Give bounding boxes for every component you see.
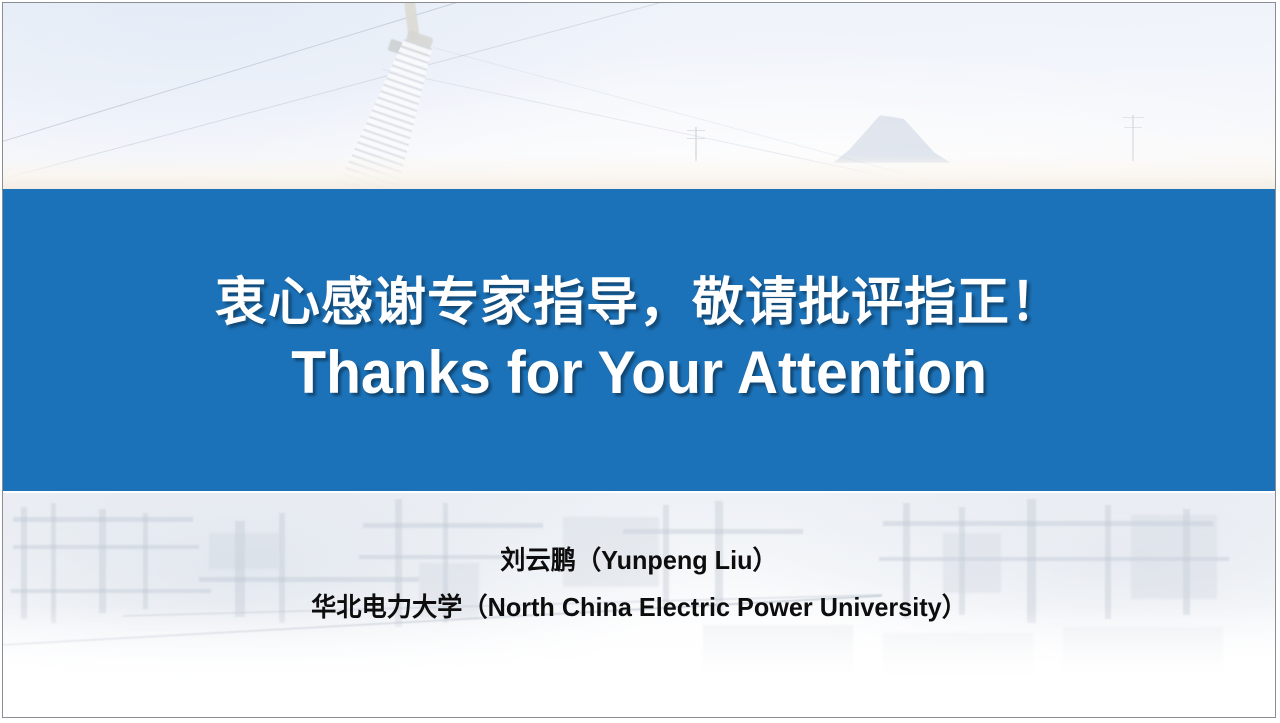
pylon-arm: [687, 138, 705, 139]
ground-glow: [3, 607, 1275, 717]
substation-beam: [363, 523, 543, 528]
substation-beam: [13, 517, 193, 522]
top-photo-band: [3, 3, 1275, 189]
headline-chinese: 衷心感谢专家指导，敬请批评指正！: [215, 274, 1063, 334]
pylon-arm: [687, 130, 705, 131]
pylon-arm: [1122, 117, 1144, 118]
title-banner: 衷心感谢专家指导，敬请批评指正！ Thanks for Your Attenti…: [3, 189, 1275, 491]
author-block: 刘云鹏（Yunpeng Liu） 华北电力大学（North China Elec…: [3, 544, 1275, 623]
author-name: 刘云鹏（Yunpeng Liu）: [22, 544, 1256, 577]
author-affiliation: 华北电力大学（North China Electric Power Univer…: [22, 591, 1256, 624]
horizon-haze: [3, 155, 1275, 189]
slide-canvas: 衷心感谢专家指导，敬请批评指正！ Thanks for Your Attenti…: [2, 2, 1276, 718]
headline-english: Thanks for Your Attention: [291, 340, 987, 406]
pylon-arm: [1124, 127, 1142, 128]
